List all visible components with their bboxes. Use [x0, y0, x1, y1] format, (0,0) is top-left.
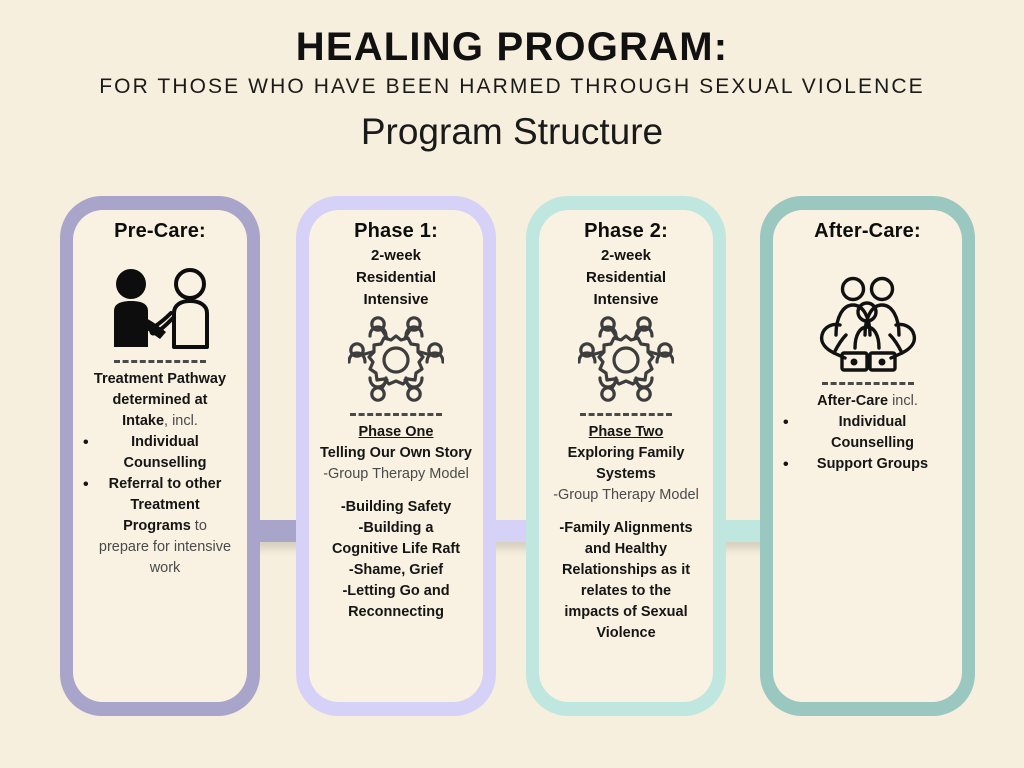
hands-holding-family-icon — [810, 275, 926, 375]
header: HEALING PROGRAM: FOR THOSE WHO HAVE BEEN… — [0, 0, 1024, 153]
card-phase-2[interactable]: Phase 2: 2-week Residential Intensive — [526, 196, 726, 716]
card-phase-1[interactable]: Phase 1: 2-week Residential Intensive — [296, 196, 496, 716]
phase-2-detail-6: Violence — [596, 625, 655, 641]
pre-care-heading: Treatment Pathway determined at Intake, … — [94, 369, 226, 432]
group-network-gear-icon — [578, 314, 674, 406]
phase-2-label-bold: Exploring Family Systems — [568, 445, 685, 482]
list-item: Individual Counselling — [783, 412, 952, 454]
after-care-heading-tail: incl. — [888, 393, 918, 409]
phase-2-detail-3: Relationships as it — [562, 562, 690, 578]
pre-care-heading-line-3: Intake — [122, 413, 164, 429]
page-subtitle: FOR THOSE WHO HAVE BEEN HARMED THROUGH S… — [0, 74, 1024, 101]
pre-care-bullet-1-bold: Individual Counselling — [124, 434, 207, 471]
list-item: Individual Counselling — [83, 432, 237, 474]
card-after-care[interactable]: After-Care: — [760, 196, 975, 716]
phase-1-label-regular: -Group Therapy Model — [323, 466, 469, 482]
phase-1-detail-4: -Shame, Grief — [349, 562, 443, 578]
card-phase-1-subtitle: 2-week Residential Intensive — [356, 245, 436, 310]
after-care-heading-line-1: After-Care — [817, 393, 888, 409]
phase-1-detail-5: -Letting Go and — [342, 583, 449, 599]
phase-1-detail-6: Reconnecting — [348, 604, 444, 620]
phase-1-detail-2: -Building a — [359, 520, 434, 536]
card-phase-1-title: Phase 1: — [354, 220, 438, 243]
dashed-separator — [114, 360, 206, 363]
phase-2-detail-4: relates to the — [581, 583, 671, 599]
pre-care-heading-tail: , incl. — [164, 413, 198, 429]
phase-1-detail-3: Cognitive Life Raft — [332, 541, 460, 557]
after-care-bullet-2: Support Groups — [817, 456, 928, 472]
card-phase-2-subtitle: 2-week Residential Intensive — [586, 245, 666, 310]
phase-2-details: -Family Alignments and Healthy Relations… — [559, 518, 692, 644]
card-phase-2-title: Phase 2: — [584, 220, 668, 243]
card-pre-care-inner: Pre-Care: Treatment Pathway determin — [73, 210, 247, 702]
phase-1-label-underlined: Phase One — [359, 424, 434, 440]
phase-2-detail-1: -Family Alignments — [559, 520, 692, 536]
phase-1-label-bold: Telling Our Own Story — [320, 445, 472, 461]
after-care-bullet-1: Individual Counselling — [831, 414, 914, 451]
pre-care-bullet-list: Individual Counselling Referral to other… — [83, 432, 237, 579]
card-pre-care-title: Pre-Care: — [114, 220, 206, 243]
phase-2-detail-5: impacts of Sexual — [564, 604, 687, 620]
dashed-separator — [350, 413, 442, 416]
infographic-page: { "header": { "title": "HEALING PROGRAM:… — [0, 0, 1024, 768]
card-phase-1-inner: Phase 1: 2-week Residential Intensive — [309, 210, 483, 702]
section-title: Program Structure — [0, 112, 1024, 153]
pre-care-heading-line-1: Treatment Pathway — [94, 371, 226, 387]
program-flow: Pre-Care: Treatment Pathway determin — [0, 196, 1024, 721]
phase-2-detail-2: and Healthy — [585, 541, 667, 557]
card-pre-care[interactable]: Pre-Care: Treatment Pathway determin — [60, 196, 260, 716]
card-after-care-inner: After-Care: — [773, 210, 962, 702]
dashed-separator — [822, 382, 914, 385]
card-phase-2-inner: Phase 2: 2-week Residential Intensive — [539, 210, 713, 702]
after-care-bullet-list: Individual Counselling Support Groups — [783, 412, 952, 475]
list-item: Support Groups — [783, 454, 952, 475]
phase-2-labels: Phase Two Exploring Family Systems -Grou… — [549, 422, 703, 506]
after-care-heading: After-Care incl. — [817, 391, 918, 412]
handshake-icon — [104, 267, 216, 353]
phase-2-label-regular: -Group Therapy Model — [553, 487, 699, 503]
list-item: Referral to other Treatment Programs to … — [83, 474, 237, 579]
pre-care-heading-line-2: determined at — [112, 392, 207, 408]
phase-1-labels: Phase One Telling Our Own Story -Group T… — [320, 422, 472, 485]
card-after-care-title: After-Care: — [814, 220, 921, 243]
phase-1-detail-1: -Building Safety — [341, 499, 451, 515]
phase-2-label-underlined: Phase Two — [589, 424, 664, 440]
phase-1-details: -Building Safety -Building a Cognitive L… — [332, 497, 460, 623]
page-title: HEALING PROGRAM: — [0, 26, 1024, 68]
group-network-gear-icon — [348, 314, 444, 406]
dashed-separator — [580, 413, 672, 416]
